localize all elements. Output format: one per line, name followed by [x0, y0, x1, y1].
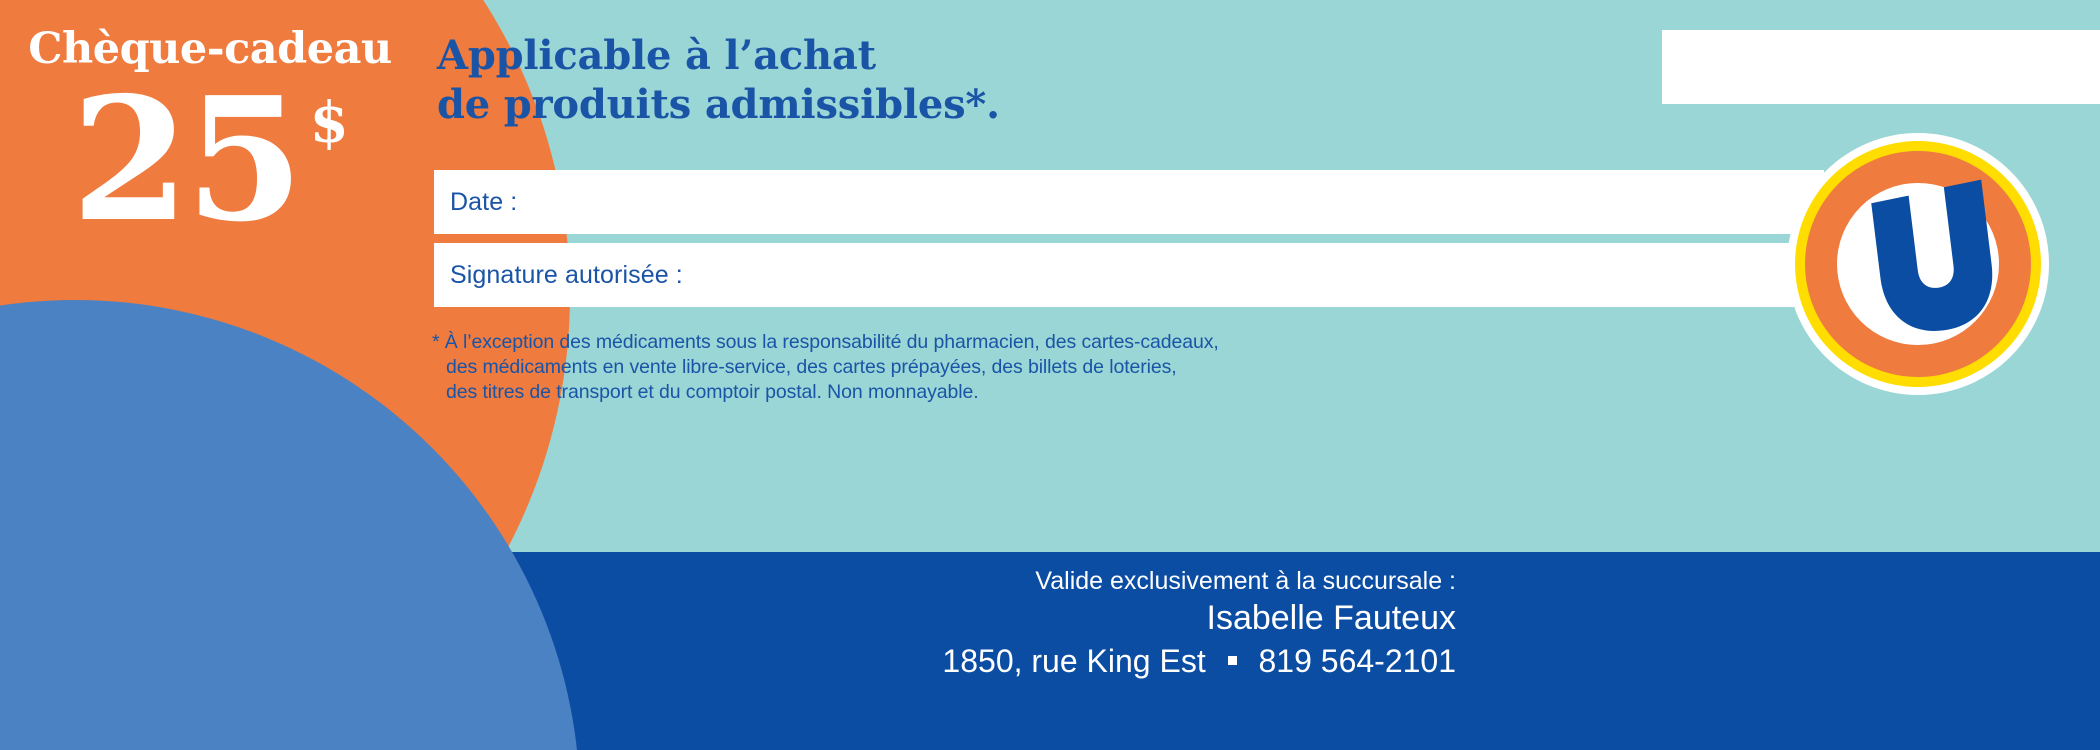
- signature-field[interactable]: Signature autorisée :: [434, 243, 1824, 307]
- headline: Applicable à l’achat de produits admissi…: [437, 32, 1000, 130]
- gift-certificate: Chèque-cadeau 25 $ Applicable à l’achat …: [0, 0, 2100, 750]
- fineprint-disclaimer: * À l’exception des médicaments sous la …: [432, 330, 1219, 405]
- voucher-value-panel: Chèque-cadeau 25 $: [0, 0, 420, 320]
- date-field[interactable]: Date :: [434, 170, 1824, 234]
- signature-field-label: Signature autorisée :: [450, 261, 683, 290]
- branch-name: Isabelle Fauteux: [942, 596, 1456, 641]
- headline-line-1: Applicable à l’achat: [437, 32, 1000, 81]
- voucher-currency-symbol: $: [310, 95, 349, 151]
- bullet-separator-icon: [1228, 656, 1237, 665]
- branch-address-line: 1850, rue King Est 819 564-2101: [942, 641, 1456, 683]
- date-field-label: Date :: [450, 188, 517, 217]
- voucher-amount-row: 25 $: [0, 77, 420, 244]
- uniprix-logo: [1787, 133, 2049, 395]
- branch-info: Valide exclusivement à la succursale : I…: [942, 566, 1456, 682]
- fineprint-line-2: des médicaments en vente libre-service, …: [432, 355, 1219, 380]
- voucher-amount: 25: [71, 77, 300, 244]
- serial-number-box[interactable]: [1662, 30, 2100, 104]
- fineprint-line-1: * À l’exception des médicaments sous la …: [432, 330, 1219, 355]
- branch-intro-label: Valide exclusivement à la succursale :: [942, 566, 1456, 596]
- branch-phone: 819 564-2101: [1258, 643, 1456, 679]
- branch-street: 1850, rue King Est: [942, 643, 1205, 679]
- fineprint-line-3: des titres de transport et du comptoir p…: [432, 380, 1219, 405]
- headline-line-2: de produits admissibles*.: [437, 81, 1000, 130]
